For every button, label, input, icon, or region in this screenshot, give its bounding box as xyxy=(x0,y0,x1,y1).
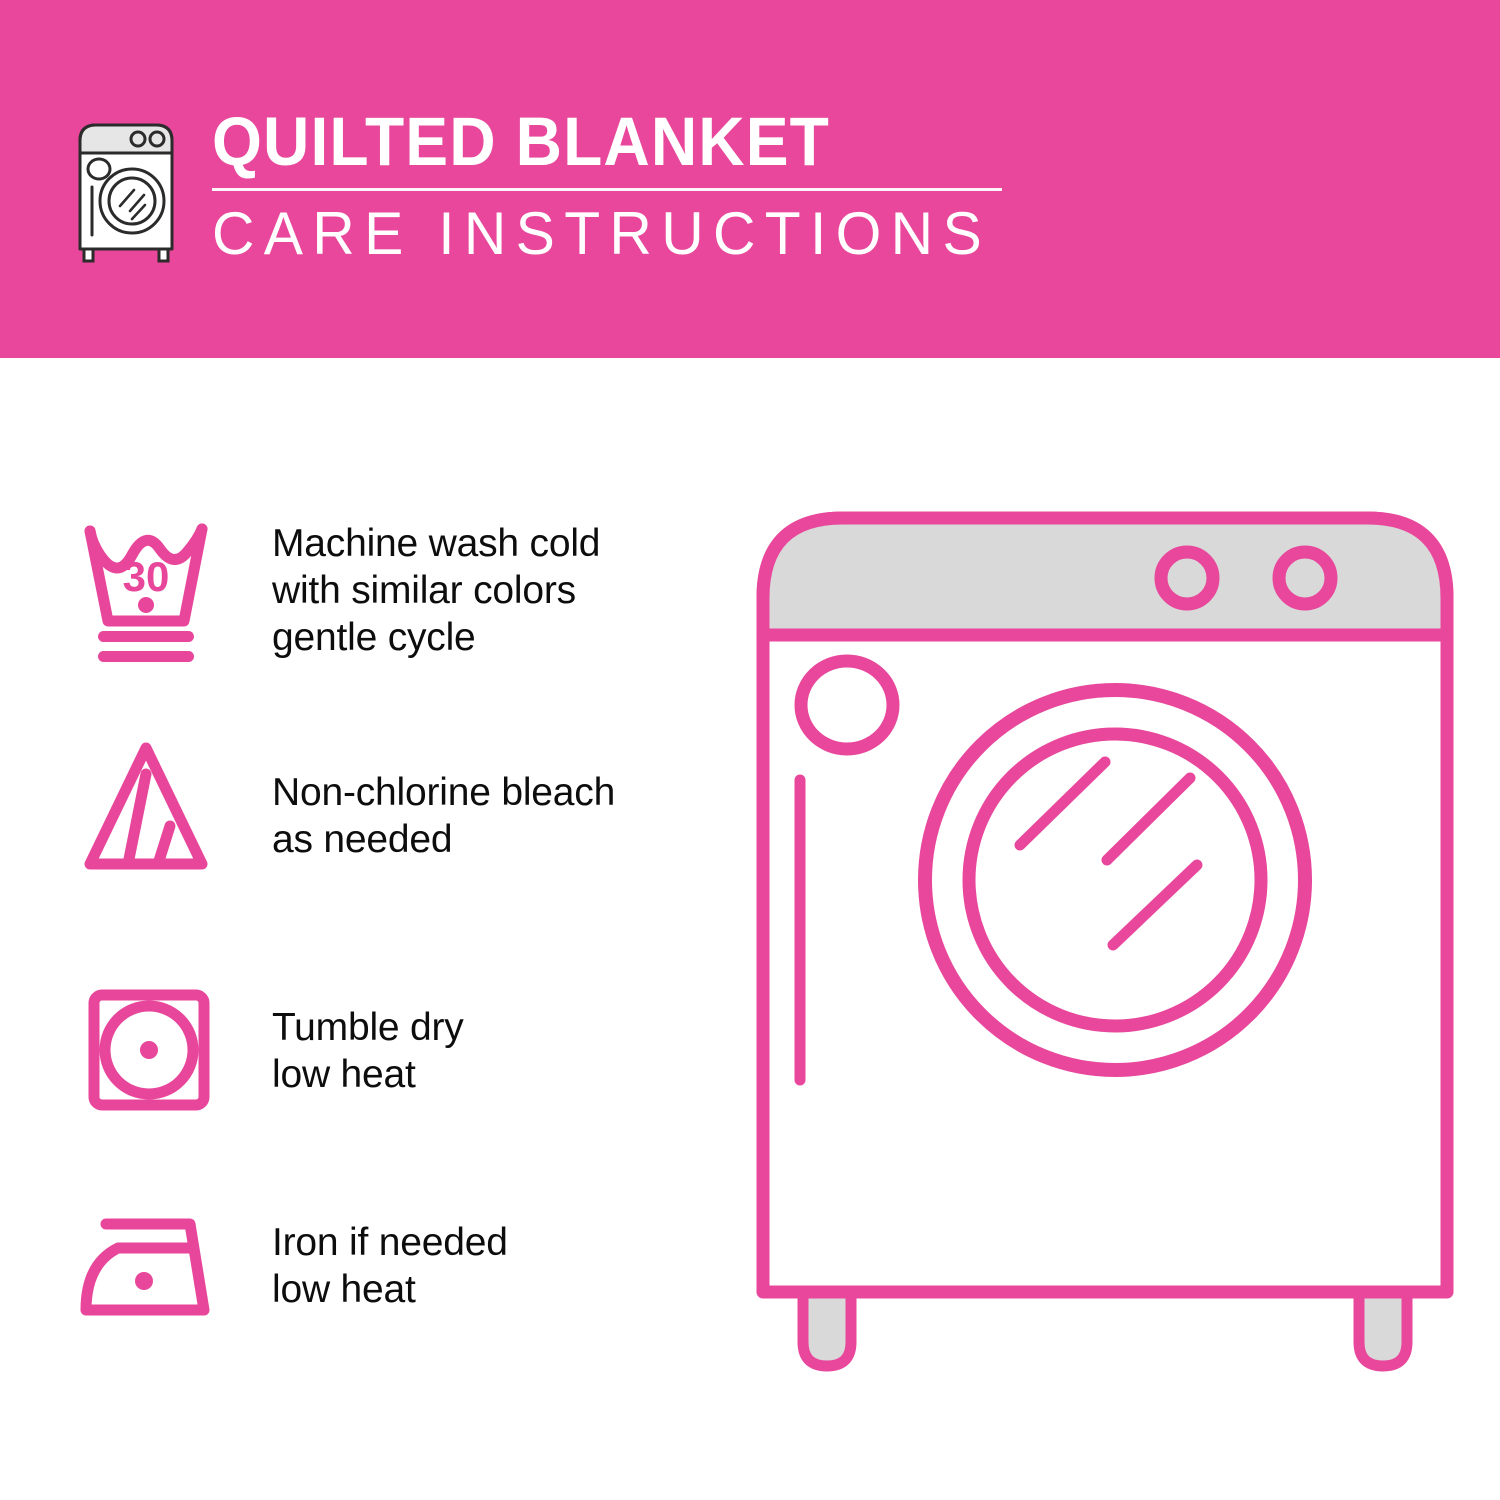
washing-machine-illustration xyxy=(735,480,1475,1440)
page-subtitle: CARE INSTRUCTIONS xyxy=(212,201,991,267)
title-block: QUILTED BLANKET CARE INSTRUCTIONS xyxy=(212,103,1007,267)
wash-temperature-label: 30 xyxy=(123,553,170,600)
instruction-line: Machine wash cold xyxy=(272,520,600,567)
list-item: Tumble dry low heat xyxy=(70,963,710,1138)
instruction-line: with similar colors xyxy=(272,567,600,614)
header-content: QUILTED BLANKET CARE INSTRUCTIONS xyxy=(62,103,1007,267)
list-item: Iron if needed low heat xyxy=(70,1178,710,1353)
list-item-text: Machine wash cold with similar colors ge… xyxy=(272,520,600,661)
instructions-list: 30 Machine wash cold with similar colors… xyxy=(0,358,740,1500)
care-instructions-page: QUILTED BLANKET CARE INSTRUCTIONS 30 xyxy=(0,0,1500,1500)
list-item-text: Non-chlorine bleach as needed xyxy=(272,769,615,863)
iron-low-heat-icon xyxy=(70,1178,250,1353)
instruction-line: Tumble dry xyxy=(272,1004,464,1051)
wash-basin-30-icon: 30 xyxy=(70,503,250,678)
washer-control-panel xyxy=(763,518,1447,635)
instruction-line: low heat xyxy=(272,1051,464,1098)
washing-machine-icon xyxy=(62,107,190,267)
instruction-line: gentle cycle xyxy=(272,614,600,661)
list-item-text: Iron if needed low heat xyxy=(272,1219,508,1313)
header-banner: QUILTED BLANKET CARE INSTRUCTIONS xyxy=(0,0,1500,358)
list-item-text: Tumble dry low heat xyxy=(272,1004,464,1098)
list-item: Non-chlorine bleach as needed xyxy=(70,728,710,903)
list-item: 30 Machine wash cold with similar colors… xyxy=(70,503,710,678)
instruction-line: Iron if needed xyxy=(272,1219,508,1266)
instruction-line: Non-chlorine bleach xyxy=(272,769,615,816)
instruction-line: low heat xyxy=(272,1266,508,1313)
instruction-line: as needed xyxy=(272,816,615,863)
bleach-triangle-icon xyxy=(70,728,250,903)
title-divider xyxy=(212,188,1002,191)
page-title: QUILTED BLANKET xyxy=(212,105,951,179)
tumble-dry-low-icon xyxy=(70,963,250,1138)
